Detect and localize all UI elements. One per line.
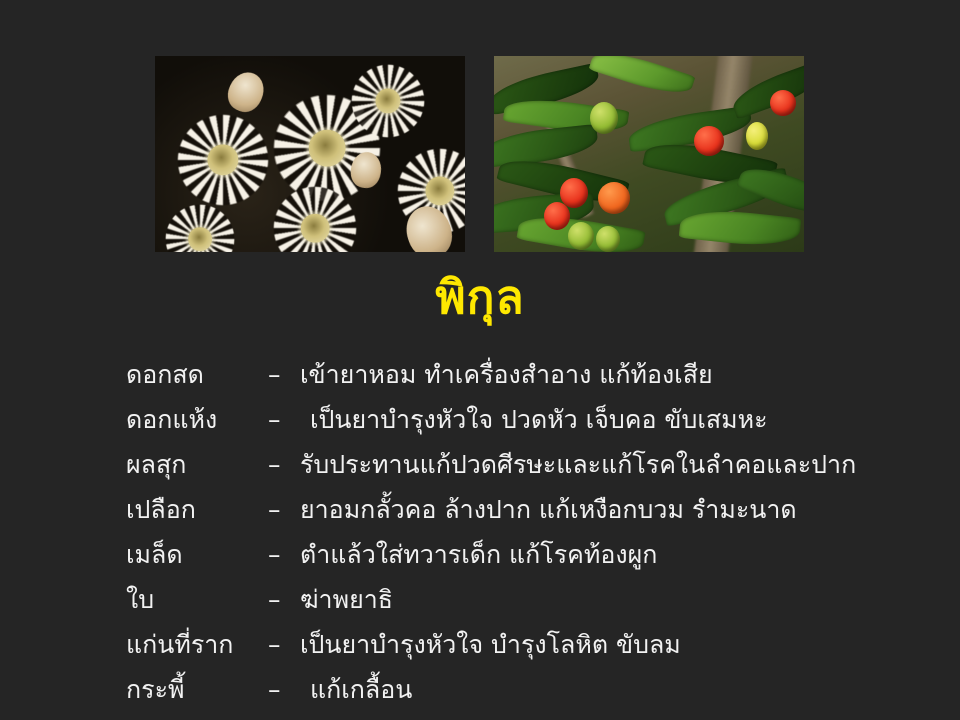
entry-description: เป็นยาบำรุงหัวใจ ปวดหัว เจ็บคอ ขับเสมหะ — [300, 397, 940, 442]
ripening-fruit — [746, 122, 768, 150]
entry-dash: – — [268, 577, 300, 622]
ripe-fruit — [770, 90, 796, 116]
medicinal-uses-list: ดอกสด – เข้ายาหอม ทำเครื่องสำอาง แก้ท้อง… — [126, 352, 940, 712]
entry-dash: – — [268, 397, 300, 442]
entry-term: เมล็ด — [126, 532, 268, 577]
phikun-flowers-photo — [155, 56, 465, 252]
flower-disc — [309, 130, 346, 167]
unripe-fruit — [590, 102, 618, 134]
entry-dash: – — [268, 352, 300, 397]
entry-term: กระพี้ — [126, 667, 268, 712]
list-item: เปลือก – ยาอมกลั้วคอ ล้างปาก แก้เหงือกบว… — [126, 487, 940, 532]
unripe-fruit — [596, 226, 620, 252]
photo-band — [155, 56, 805, 252]
flower-bloom — [351, 64, 425, 138]
ripe-fruit — [598, 182, 630, 214]
slide-canvas: พิกุล ดอกสด – เข้ายาหอม ทำเครื่องสำอาง แ… — [0, 0, 960, 720]
entry-term: ดอกสด — [126, 352, 268, 397]
entry-dash: – — [268, 487, 300, 532]
entry-dash: – — [268, 622, 300, 667]
entry-term: ดอกแห้ง — [126, 397, 268, 442]
entry-description: เป็นยาบำรุงหัวใจ บำรุงโลหิต ขับลม — [300, 622, 940, 667]
entry-dash: – — [268, 667, 300, 712]
entry-description: ฆ่าพยาธิ — [300, 577, 940, 622]
flower-bloom — [177, 114, 269, 206]
page-title: พิกุล — [0, 268, 960, 326]
entry-dash: – — [268, 442, 300, 487]
entry-description: เข้ายาหอม ทำเครื่องสำอาง แก้ท้องเสีย — [300, 352, 940, 397]
entry-dash: – — [268, 532, 300, 577]
list-item: ดอกสด – เข้ายาหอม ทำเครื่องสำอาง แก้ท้อง… — [126, 352, 940, 397]
list-item: แก่นที่ราก – เป็นยาบำรุงหัวใจ บำรุงโลหิต… — [126, 622, 940, 667]
entry-description: ยาอมกลั้วคอ ล้างปาก แก้เหงือกบวม รำมะนาด — [300, 487, 940, 532]
unripe-fruit — [568, 222, 594, 250]
phikun-fruit-photo — [494, 56, 804, 252]
list-item: ใบ – ฆ่าพยาธิ — [126, 577, 940, 622]
ripe-fruit — [694, 126, 724, 156]
entry-term: เปลือก — [126, 487, 268, 532]
flower-disc — [301, 214, 330, 243]
entry-term: ผลสุก — [126, 442, 268, 487]
list-item: เมล็ด – ตำแล้วใส่ทวารเด็ก แก้โรคท้องผูก — [126, 532, 940, 577]
list-item: ดอกแห้ง – เป็นยาบำรุงหัวใจ ปวดหัว เจ็บคอ… — [126, 397, 940, 442]
entry-term: แก่นที่ราก — [126, 622, 268, 667]
entry-description: รับประทานแก้ปวดศีรษะและแก้โรคในลำคอและปา… — [300, 442, 940, 487]
flower-disc — [188, 227, 212, 251]
entry-description: แก้เกลื้อน — [300, 667, 940, 712]
list-item: ผลสุก – รับประทานแก้ปวดศีรษะและแก้โรคในล… — [126, 442, 940, 487]
entry-description: ตำแล้วใส่ทวารเด็ก แก้โรคท้องผูก — [300, 532, 940, 577]
list-item: กระพี้ – แก้เกลื้อน — [126, 667, 940, 712]
ripe-fruit — [544, 202, 570, 230]
entry-term: ใบ — [126, 577, 268, 622]
